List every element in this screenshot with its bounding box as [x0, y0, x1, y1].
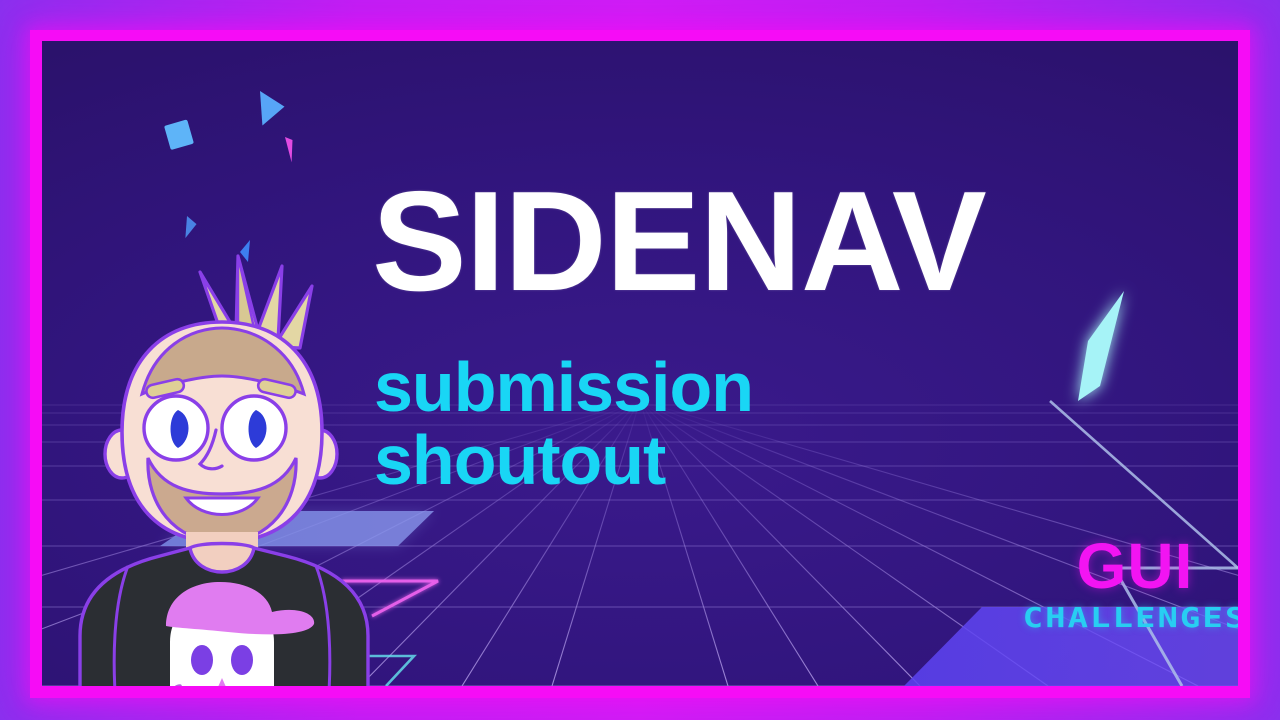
avatar-eye-right — [222, 396, 286, 460]
logo-primary-text: GUI — [1006, 536, 1238, 597]
avatar-eye-left — [144, 396, 208, 460]
logo-secondary-text: CHALLENGES — [1006, 604, 1238, 632]
thumbnail-stage: SIDENAV submission shoutout GUI CHALLENG… — [0, 0, 1280, 720]
shard-cyan-glow — [1078, 291, 1124, 401]
confetti-triangle-blue — [256, 91, 285, 128]
scene-inner-panel: SIDENAV submission shoutout GUI CHALLENG… — [42, 41, 1238, 686]
gui-challenges-logo: GUI CHALLENGES — [1006, 536, 1238, 635]
page-title: SIDENAV — [372, 174, 986, 310]
confetti-sliver-magenta — [285, 136, 296, 163]
mohawk-blue-tip — [240, 240, 250, 262]
confetti-square-blue — [164, 119, 194, 150]
host-avatar — [50, 236, 450, 686]
